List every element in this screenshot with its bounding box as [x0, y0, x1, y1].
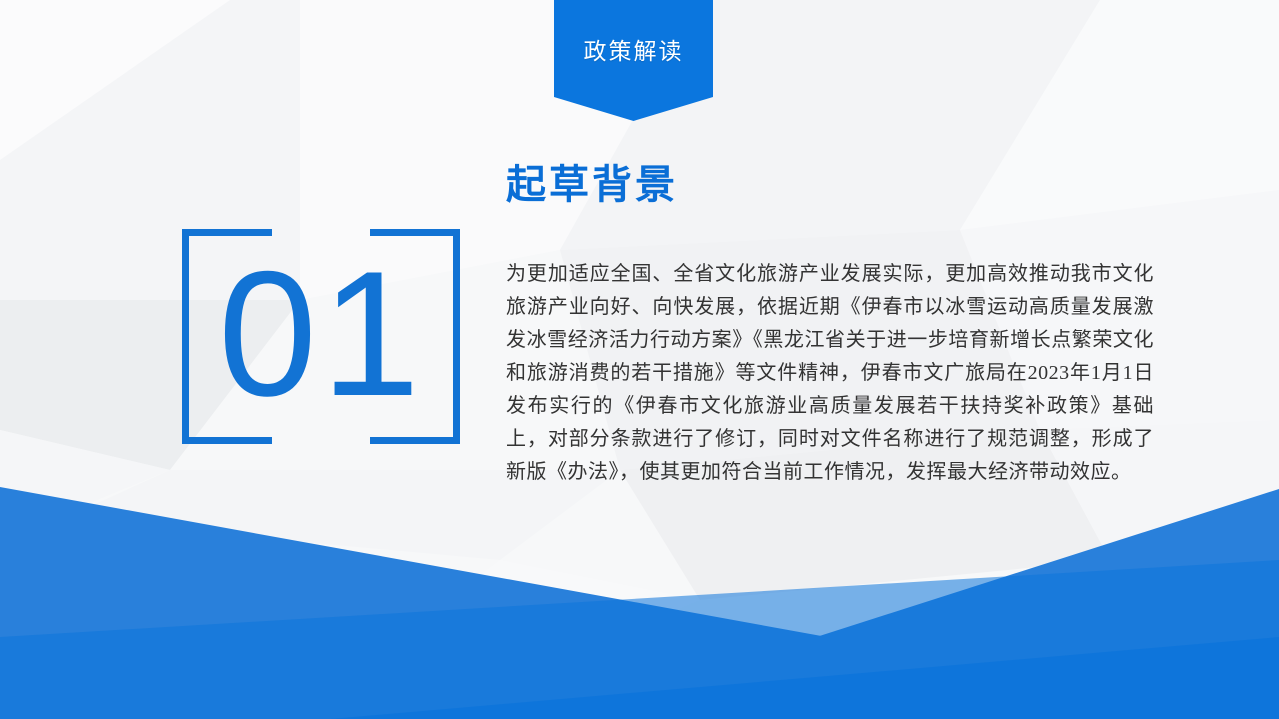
section-number-plate: 01 — [182, 229, 460, 444]
slide-canvas: 政策解读 起草背景 01 为更加适应全国、全省文化旅游产业发展实际，更加高效推动… — [0, 0, 1279, 719]
policy-interpretation-ribbon: 政策解读 — [554, 0, 713, 121]
body-paragraph: 为更加适应全国、全省文化旅游产业发展实际，更加高效推动我市文化旅游产业向好、向快… — [506, 258, 1154, 489]
ribbon-label: 政策解读 — [554, 0, 713, 97]
section-number: 01 — [182, 229, 460, 444]
section-heading: 起草背景 — [506, 152, 678, 210]
